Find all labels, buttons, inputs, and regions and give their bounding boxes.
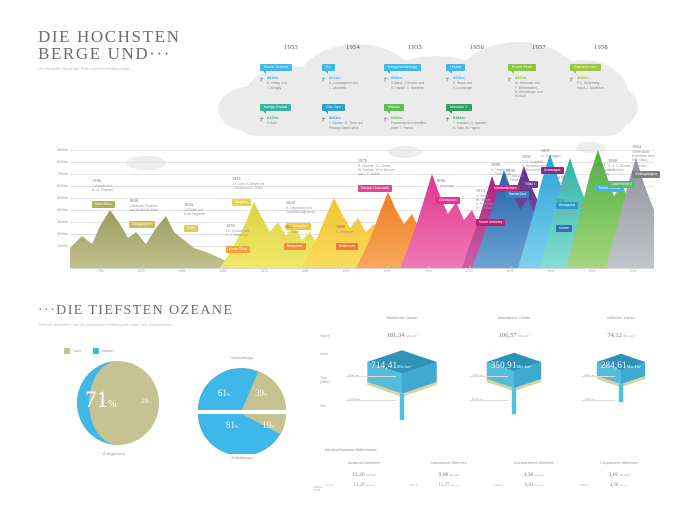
table-column-head: Arktisches Mittelmeer bbox=[325, 461, 403, 465]
legend-label-land: Land bbox=[73, 349, 81, 353]
pie-earth-caption: Erde(gesamt) bbox=[55, 452, 173, 456]
table-column: Europäisches Mittelmeer3,02 Mio.km²1486 … bbox=[580, 461, 658, 488]
ocean-3d-slab bbox=[582, 342, 660, 420]
peak-name-pill: Ortler bbox=[184, 225, 198, 232]
peak-name-pill: Nevado Huascarán bbox=[358, 185, 392, 192]
timeline-mountain-pill: Nanga Parbat bbox=[260, 104, 291, 111]
flag-icon bbox=[508, 77, 513, 82]
table-title: Interkontinentale Mittelmeere bbox=[325, 448, 670, 452]
timeline-column: 1956Lhotse8516mE. Reiss undF. Luchsinger… bbox=[446, 44, 508, 135]
ocean-axis-label-flaeche: Fläche bbox=[320, 334, 330, 338]
y-tick-label: 8000m bbox=[57, 160, 68, 164]
x-tick-label: 1960 bbox=[629, 269, 636, 273]
table-column-head: Amerikanisches Mittelmeer bbox=[495, 461, 573, 465]
timeline-year: 1958 bbox=[570, 44, 632, 51]
x-tick-label: 1750 bbox=[96, 269, 103, 273]
x-tick-label: 1800 bbox=[137, 269, 144, 273]
flag-icon bbox=[322, 77, 327, 82]
y-tick-label: 9000m bbox=[57, 148, 68, 152]
table-volume-unit: Mio.km³ bbox=[620, 484, 629, 487]
peak-name-pill: Shishapangma bbox=[632, 171, 660, 178]
pie-legend: Land Wasser bbox=[64, 348, 114, 354]
peak-name-pill: Chimborazo bbox=[436, 197, 460, 204]
peak-year: 1964 bbox=[632, 144, 690, 149]
timeline-height: 8080m bbox=[577, 76, 632, 80]
timeline-card[interactable]: Gasherbrum I8080mP.K. Schoeningund A.J. … bbox=[570, 55, 632, 90]
table-area-unit: Mio.km² bbox=[535, 474, 545, 477]
peak-annotation[interactable]: 1964ChinesischeExpedition unterHsu Ching… bbox=[632, 144, 690, 180]
table-volume-unit: Mio.km³ bbox=[451, 484, 460, 487]
x-tick-label: 1870 bbox=[260, 269, 267, 273]
table-depth-value: 1117 m bbox=[324, 483, 333, 487]
ocean-area: 106,57 Mio.km² bbox=[470, 332, 558, 339]
peak-year: 1811 bbox=[232, 176, 298, 181]
pie-north-land-value: 39% bbox=[255, 390, 267, 398]
table-depth-value: 1252 m bbox=[409, 483, 418, 487]
chart-x-axis: 1750180018501860187018801890190019101920… bbox=[70, 269, 654, 281]
table-volume-unit: Mio.km³ bbox=[366, 484, 375, 487]
peak-name-pill: Kamet bbox=[556, 225, 572, 232]
table-row-label: FlächeInhalt bbox=[313, 486, 322, 493]
peak-name-pill: Großglockner bbox=[129, 221, 155, 228]
table-area-unit: Mio.km² bbox=[366, 474, 376, 477]
mountain-chart: 9000m8000m7000m6000m5000m4000m3000m2000m… bbox=[36, 140, 654, 285]
timeline-year: 1954 bbox=[322, 44, 384, 51]
timeline-height: 8485m bbox=[391, 116, 446, 120]
ocean-3d-slab bbox=[346, 342, 458, 420]
x-tick-label: 1940 bbox=[547, 269, 554, 273]
peak-name-pill: Mont Blanc bbox=[92, 201, 115, 208]
timeline-card[interactable]: Kangchendzönga8586mG.Band, J. Brown, und… bbox=[384, 55, 446, 90]
timeline-mountain-pill: Manaslu II bbox=[446, 104, 472, 111]
peak-year: 1865 bbox=[336, 224, 402, 229]
peak-climbers: E. Zsigmondy undGußfeldt/Zsigmondy bbox=[286, 206, 352, 214]
pie-south-water-value: 81% bbox=[226, 422, 238, 430]
ocean-volume-unit: Mio.km³ bbox=[627, 365, 642, 369]
x-tick-label: 1930 bbox=[506, 269, 513, 273]
table-area-value: 3,02 Mio.km² bbox=[580, 472, 658, 478]
peak-name-pill: Mount McKinley bbox=[476, 219, 505, 226]
pie-hemispheres-svg bbox=[192, 366, 292, 454]
section1-title-line2: BERGE UND··· bbox=[38, 45, 180, 62]
ocean-volume-unit: Mio.km³ bbox=[517, 365, 532, 369]
table-volume-value: 2164 m9,43 Mio.km³ bbox=[495, 483, 573, 488]
ocean-volume: 714,41Mio.km³ bbox=[371, 360, 412, 370]
timeline-column: 1955Kangchendzönga8586mG.Band, J. Brown,… bbox=[384, 44, 446, 135]
pie-earth-water-value: 71% bbox=[85, 388, 117, 416]
timeline-climbers: E. Reiss undF. Luchsinger bbox=[453, 81, 508, 90]
timeline-height: 8163m bbox=[453, 116, 508, 120]
timeline-climbers: H.Buhl bbox=[267, 121, 322, 125]
y-tick-label: 2000m bbox=[57, 232, 68, 236]
ocean-block: Atlantischer Ozean106,57 Mio.km²350,91Mi… bbox=[470, 316, 558, 428]
table-volume-value: 1117 m13,29 Mio.km³ bbox=[325, 483, 403, 488]
x-tick-label: 1850 bbox=[178, 269, 185, 273]
timeline-card[interactable]: Broad Peak8051mM. Schmuck undF. Winterst… bbox=[508, 55, 570, 99]
timeline-mountain-pill: Cho Oyu bbox=[322, 104, 345, 111]
flag-icon bbox=[384, 77, 389, 82]
peak-name-pill: Gasherbrum II bbox=[608, 181, 635, 188]
timeline-column: 1957Broad Peak8051mM. Schmuck undF. Wint… bbox=[508, 44, 570, 104]
flag-icon bbox=[384, 117, 389, 122]
x-tick-label: 1910 bbox=[424, 269, 431, 273]
timeline-mountain-pill: Kangchendzönga bbox=[384, 64, 421, 71]
ocean-3d-slab bbox=[470, 342, 558, 420]
x-tick-label: 1950 bbox=[588, 269, 595, 273]
section2-header: ···DIE TIEFSTEN OZEANE Tiefe der Weltmee… bbox=[38, 303, 233, 327]
table-volume-value: 1486 m4,38 Mio.km³ bbox=[580, 483, 658, 488]
peak-year: 1820 bbox=[286, 200, 352, 205]
timeline-mountain-pill: Makalu bbox=[384, 104, 404, 111]
timeline-height: 8848m bbox=[267, 76, 322, 80]
y-tick-label: 7000m bbox=[57, 172, 68, 176]
timeline-climbers: P.K. Schoeningund A.J. Kauffman bbox=[577, 81, 632, 90]
infographic-page: DIE HOCHSTEN BERGE UND··· Die höchsten B… bbox=[0, 0, 690, 524]
y-tick-label: 6000m bbox=[57, 184, 68, 188]
ocean-depth-diagrams: Fläche Inhalt Tiefe (Mittel) Max Pazifis… bbox=[320, 316, 670, 431]
ocean-volume-unit: Mio.km³ bbox=[397, 365, 412, 369]
timeline-card[interactable]: Nanga Parbat8125mH.Buhl bbox=[260, 95, 322, 126]
peak-name-pill: Annapurna bbox=[556, 202, 578, 209]
timeline-climbers: E. Hillary undT. Norgay bbox=[267, 81, 322, 90]
table-depth-value: 1486 m bbox=[579, 483, 588, 487]
timeline-climbers: J. Jöchler, H. Tichy undPasang Dawa Lama bbox=[329, 121, 384, 130]
timeline-climbers: M. Schmuck undF. Wintersteller,K. Diembe… bbox=[515, 81, 570, 98]
timeline-mountain-pill: K2 bbox=[322, 64, 335, 71]
peak-climbers: J.P.Eblen undErnst Negretter bbox=[184, 208, 250, 216]
timeline-climbers: Französische Expeditionunter J. Franco bbox=[391, 121, 446, 130]
timeline-column: 1953Mount Everest8848mE. Hillary undT. N… bbox=[260, 44, 322, 131]
timeline-card[interactable]: Manaslu II8163mT. Imanishi, G. Igarashi,… bbox=[446, 95, 508, 130]
legend-swatch-water bbox=[93, 348, 99, 354]
table-row: FlächeInhalt Arktisches Mittelmeer12,26 … bbox=[325, 461, 670, 495]
timeline-year: 1957 bbox=[508, 44, 570, 51]
legend-label-water: Wasser bbox=[102, 349, 114, 353]
timeline-card[interactable]: K28611mA. Compagnoni undL. Lacedelli bbox=[322, 55, 384, 90]
flag-icon bbox=[322, 117, 327, 122]
peak-name-pill: Matterhorn bbox=[336, 243, 358, 250]
peak-year: 1870 bbox=[358, 158, 424, 163]
flag-icon bbox=[260, 117, 265, 122]
table-column: Australisches Mittelmeer9,08 Mio.km²1252… bbox=[410, 461, 488, 488]
peak-year: 1907 bbox=[522, 154, 588, 159]
ocean-block: Pazifischer Ozean181,34 Mio.km²714,41Mio… bbox=[346, 316, 458, 428]
timeline-year: 1956 bbox=[446, 44, 508, 51]
ocean-area-unit: Mio.km² bbox=[406, 334, 417, 338]
cloud-timeline: 1953Mount Everest8848mE. Hillary undT. N… bbox=[218, 34, 638, 138]
ocean-area-unit: Mio.km² bbox=[623, 334, 634, 338]
timeline-year: 1955 bbox=[384, 44, 446, 51]
peak-annotation[interactable]: 1865E. WhymperMatterhorn bbox=[336, 224, 402, 252]
peak-year: 1897 bbox=[541, 148, 607, 153]
timeline-climbers: G.Band, J. Brown, undN. Hardie, S. Strea… bbox=[391, 81, 446, 90]
timeline-column: 1958Gasherbrum I8080mP.K. Schoeningund A… bbox=[570, 44, 632, 95]
timeline-card[interactable]: Mount Everest8848mE. Hillary undT. Norga… bbox=[260, 55, 322, 90]
pie-north-caption: Nordhalbkugel bbox=[192, 356, 292, 360]
table-area-value: 12,26 Mio.km² bbox=[325, 472, 403, 478]
pie-earth-land-value: 29% bbox=[141, 398, 151, 406]
ocean-area: 74,12 Mio.km² bbox=[582, 332, 660, 339]
pie-chart-earth: 71% 29% Erde(gesamt) bbox=[55, 360, 173, 458]
pie-south-caption: Südhalbkugel bbox=[192, 456, 292, 460]
timeline-height: 8125m bbox=[267, 116, 322, 120]
y-tick-label: 4000m bbox=[57, 208, 68, 212]
table-depth-value: 2164 m bbox=[494, 483, 503, 487]
peak-name-pill: Monte Rosa bbox=[226, 246, 250, 253]
flag-icon bbox=[446, 77, 451, 82]
timeline-card[interactable]: Makalu8485mFranzösische Expeditionunter … bbox=[384, 95, 446, 130]
peak-climbers: J. Balmat undM.-G. Paccard bbox=[92, 184, 158, 192]
section2-subtitle: Tiefe der Weltmeere und die prozentuale … bbox=[38, 323, 233, 327]
chart-y-axis: 9000m8000m7000m6000m5000m4000m3000m2000m… bbox=[36, 140, 70, 260]
x-tick-label: 1900 bbox=[383, 269, 390, 273]
peak-climbers: ChinesischeExpedition unterHsu Ching bbox=[632, 150, 690, 162]
timeline-height: 8516m bbox=[453, 76, 508, 80]
ocean-axis-label-max: Max bbox=[320, 404, 326, 408]
pie-chart-hemispheres: Nordhalbkugel 61% 39% 81% 19% Südhalbkug… bbox=[192, 356, 292, 460]
x-tick-label: 1880 bbox=[301, 269, 308, 273]
timeline-year: 1953 bbox=[260, 44, 322, 51]
table-column: Amerikanisches Mittelmeer4,36 Mio.km²216… bbox=[495, 461, 573, 488]
mediterranean-table: Interkontinentale Mittelmeere FlächeInha… bbox=[325, 448, 670, 495]
peak-year: 1936 bbox=[506, 168, 572, 173]
ocean-block: Indischer Ozean74,12 Mio.km²284,61Mio.km… bbox=[582, 316, 660, 428]
table-column-head: Australisches Mittelmeer bbox=[410, 461, 488, 465]
timeline-mountain-pill: Lhotse bbox=[446, 64, 465, 71]
timeline-height: 8051m bbox=[515, 76, 570, 80]
y-tick-label: 5000m bbox=[57, 196, 68, 200]
table-area-unit: Mio.km² bbox=[620, 474, 630, 477]
ocean-area: 181,34 Mio.km² bbox=[346, 332, 458, 339]
section1-title-line1: DIE HOCHSTEN bbox=[38, 28, 180, 45]
ocean-name: Atlantischer Ozean bbox=[470, 316, 558, 320]
ocean-axis-label-tiefe: Tiefe (Mittel) bbox=[320, 376, 336, 384]
timeline-mountain-pill: Broad Peak bbox=[508, 64, 536, 71]
peak-climbers: R. Gunther, J.C. Grove,W. Graham, W.H. M… bbox=[358, 164, 424, 176]
pie-south-land-value: 19% bbox=[262, 422, 274, 430]
timeline-climbers: A. Compagnoni undL. Lacedelli bbox=[329, 81, 384, 90]
table-area-value: 4,36 Mio.km² bbox=[495, 472, 573, 478]
timeline-card[interactable]: Lhotse8516mE. Reiss undF. Luchsinger bbox=[446, 55, 508, 90]
legend-item-land: Land bbox=[64, 348, 81, 354]
pie-north-water-value: 61% bbox=[218, 390, 230, 398]
peak-name-pill: Jungfrau bbox=[232, 199, 251, 206]
x-tick-label: 1860 bbox=[219, 269, 226, 273]
peak-climbers: E. Whymper bbox=[336, 230, 402, 234]
peak-year: 1855 bbox=[226, 223, 292, 228]
ocean-name: Pazifischer Ozean bbox=[346, 316, 458, 320]
ocean-volume: 284,61Mio.km³ bbox=[601, 360, 642, 370]
peak-name-pill: Nanda Devi bbox=[506, 191, 529, 198]
table-volume-unit: Mio.km³ bbox=[535, 484, 544, 487]
flag-icon bbox=[260, 77, 265, 82]
peak-climbers: J.R. und J.C.Meyer mitJ. Bortis und A. M… bbox=[232, 182, 298, 190]
timeline-mountain-pill: Gasherbrum I bbox=[570, 64, 601, 71]
ocean-name: Indischer Ozean bbox=[582, 316, 660, 320]
table-column-head: Europäisches Mittelmeer bbox=[580, 461, 658, 465]
peak-annotation[interactable]: 1870R. Gunther, J.C. Grove,W. Graham, W.… bbox=[358, 158, 424, 194]
ocean-volume: 350,91Mio.km³ bbox=[491, 360, 532, 370]
peak-year: 1786 bbox=[92, 178, 158, 183]
section2-title: ···DIE TIEFSTEN OZEANE bbox=[38, 303, 233, 319]
table-volume-value: 1252 m11,37 Mio.km³ bbox=[410, 483, 488, 488]
peak-name-pill: Weisshorn bbox=[284, 243, 306, 250]
section1-subtitle: Die höchsten Berge der Erde und ihre Ers… bbox=[38, 67, 180, 72]
flag-icon bbox=[446, 117, 451, 122]
timeline-climbers: T. Imanishi, G. Igarashi,K. Kato, M. Hig… bbox=[453, 121, 508, 130]
ocean-axis-label-inhalt: Inhalt bbox=[320, 352, 328, 356]
timeline-column: 1954K28611mA. Compagnoni undL. Lacedelli… bbox=[322, 44, 384, 135]
timeline-height: 8611m bbox=[329, 76, 384, 80]
flag-icon bbox=[570, 77, 575, 82]
legend-item-water: Wasser bbox=[93, 348, 114, 354]
x-tick-label: 1920 bbox=[465, 269, 472, 273]
legend-swatch-land bbox=[64, 348, 70, 354]
table-area-unit: Mio.km² bbox=[450, 474, 460, 477]
timeline-height: 8586m bbox=[391, 76, 446, 80]
section1-header: DIE HOCHSTEN BERGE UND··· Die höchsten B… bbox=[38, 28, 180, 72]
y-tick-label: 1000m bbox=[57, 244, 68, 248]
peak-annotation[interactable]: 1855Ch. Hudson undE. J. StevensonMonte R… bbox=[226, 223, 292, 255]
peak-climbers: Ch. Hudson undE. J. Stevenson bbox=[226, 229, 292, 237]
x-tick-label: 1890 bbox=[342, 269, 349, 273]
timeline-height: 8201m bbox=[329, 116, 384, 120]
timeline-mountain-pill: Mount Everest bbox=[260, 64, 292, 71]
ocean-area-unit: Mio.km² bbox=[518, 334, 529, 338]
table-area-value: 9,08 Mio.km² bbox=[410, 472, 488, 478]
table-column: Arktisches Mittelmeer12,26 Mio.km²1117 m… bbox=[325, 461, 403, 488]
y-tick-label: 3000m bbox=[57, 220, 68, 224]
timeline-card[interactable]: Cho Oyu8201mJ. Jöchler, H. Tichy undPasa… bbox=[322, 95, 384, 130]
